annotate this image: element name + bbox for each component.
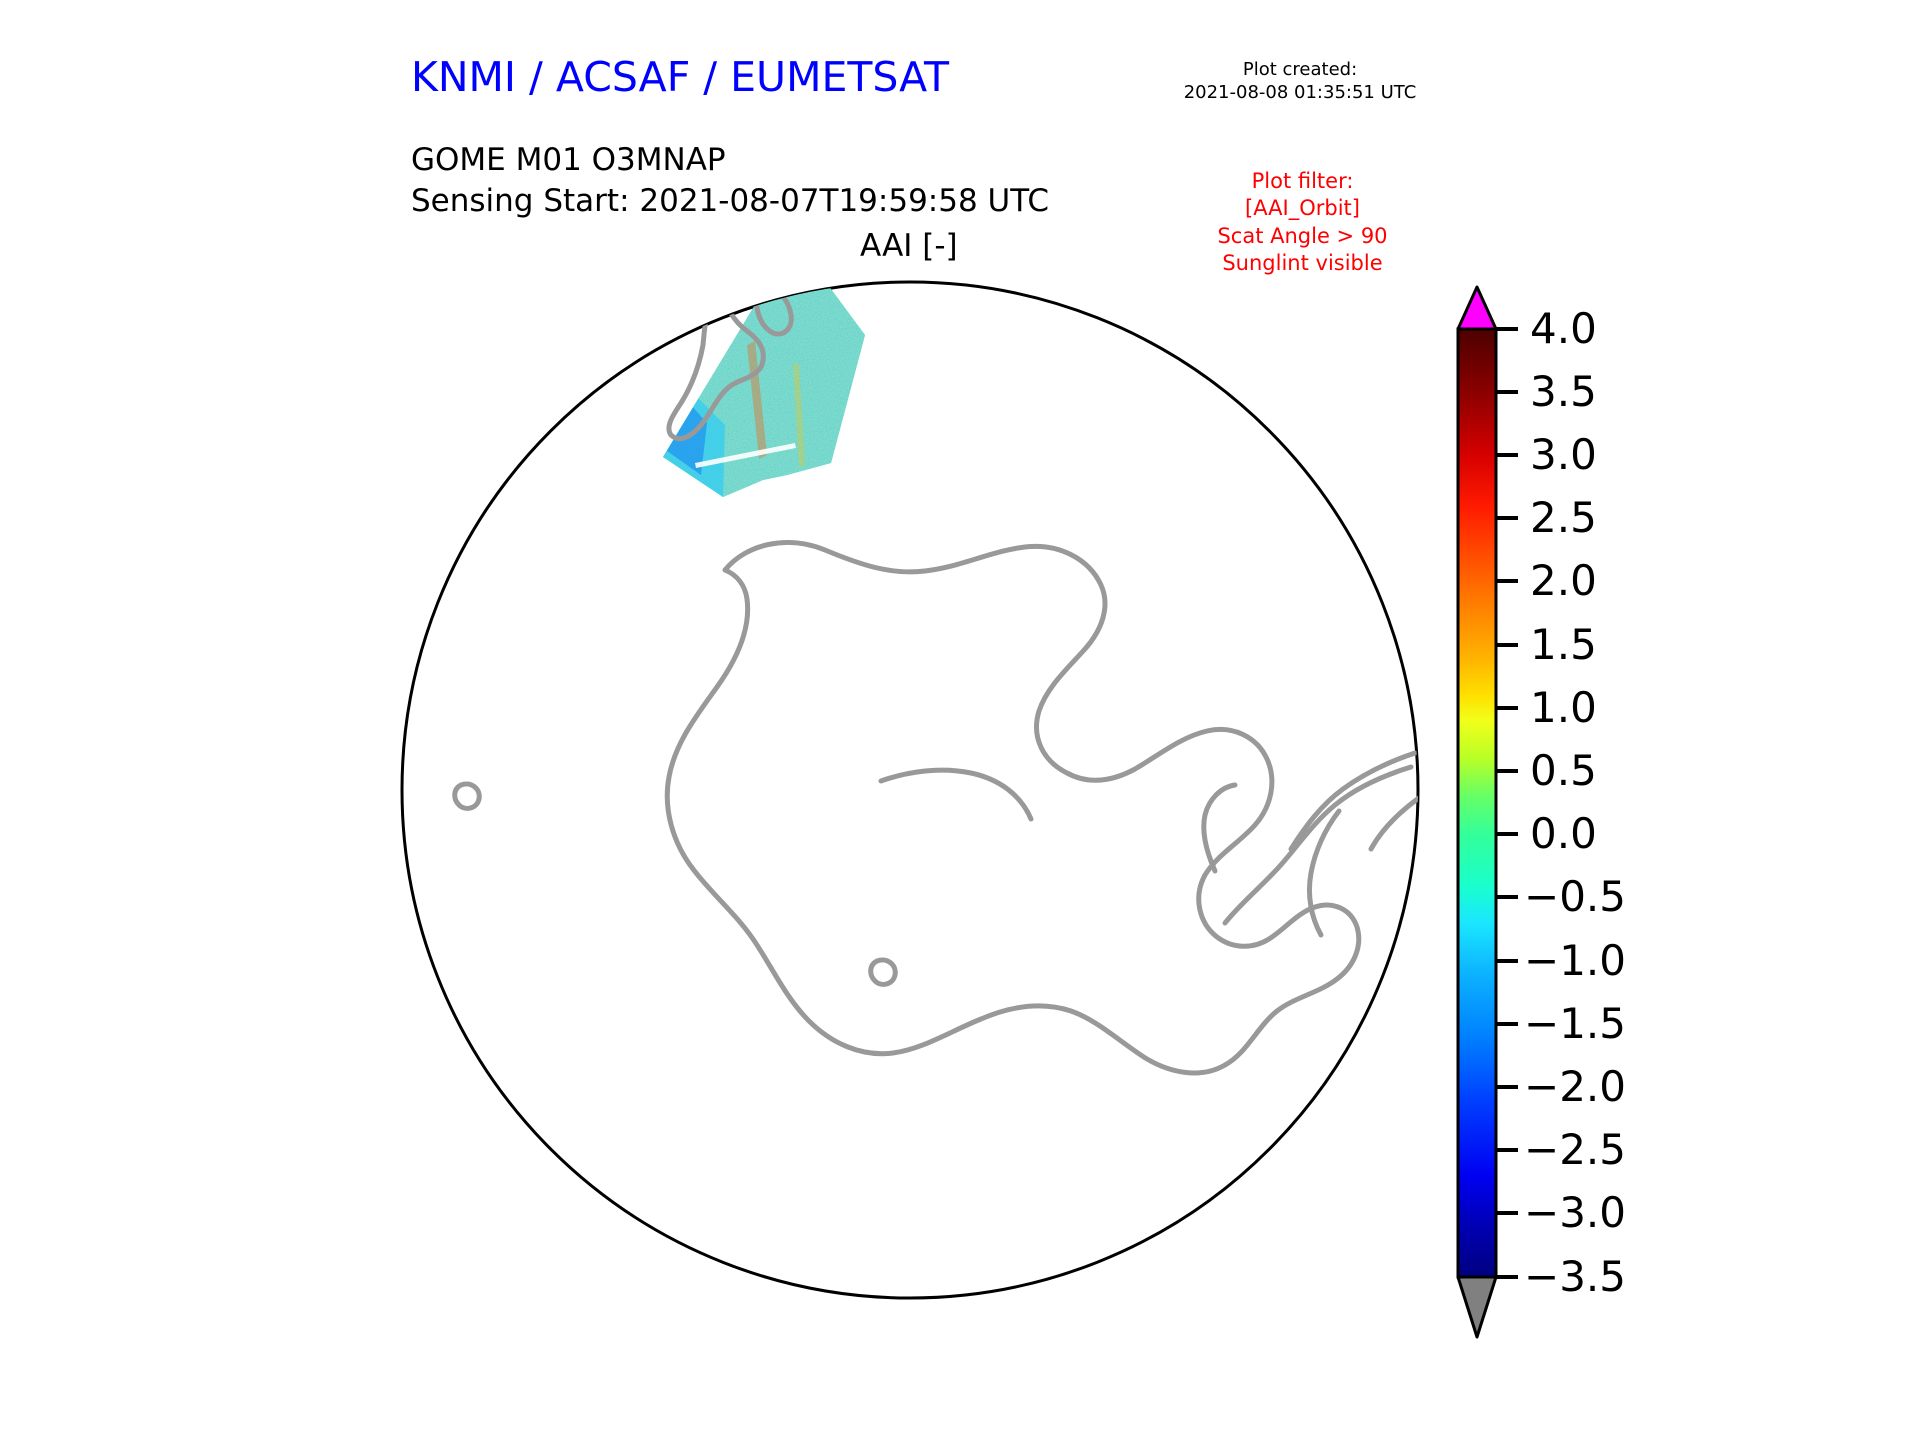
dataset-block: GOME M01 O3MNAP Sensing Start: 2021-08-0…: [411, 140, 1049, 222]
filter-line-3: Scat Angle > 90: [1175, 223, 1430, 250]
map-disc-outline: [402, 282, 1418, 1298]
colorbar-tick-label: 4.0: [1530, 304, 1597, 353]
colorbar-tick-label: −2.5: [1524, 1125, 1626, 1174]
colorbar-under-arrow: [1458, 1277, 1496, 1337]
colorbar: 4.0 3.5 3.0 2.5 2.0 1.5 1.0 0.5 0.0 −0.5…: [1452, 285, 1512, 1085]
colorbar-tick-label: −3.5: [1524, 1252, 1626, 1301]
plot-filter-block: Plot filter: [AAI_Orbit] Scat Angle > 90…: [1175, 168, 1430, 277]
colorbar-tick-label: −1.5: [1524, 999, 1626, 1048]
filter-line-1: Plot filter:: [1175, 168, 1430, 195]
colorbar-tick-label: −1.0: [1524, 936, 1626, 985]
colorbar-tick-label: 2.5: [1530, 493, 1597, 542]
plot-created-value: 2021-08-08 01:35:51 UTC: [1160, 81, 1440, 104]
colorbar-gradient: [1458, 329, 1496, 1277]
colorbar-tick-label: −3.0: [1524, 1188, 1626, 1237]
sensing-start-line: Sensing Start: 2021-08-07T19:59:58 UTC: [411, 181, 1049, 222]
polar-map: [395, 275, 1425, 1305]
filter-line-2: [AAI_Orbit]: [1175, 195, 1430, 222]
plot-created-block: Plot created: 2021-08-08 01:35:51 UTC: [1160, 58, 1440, 104]
colorbar-tick-label: 2.0: [1530, 556, 1597, 605]
colorbar-tick-label: 0.5: [1530, 746, 1597, 795]
colorbar-over-arrow: [1458, 287, 1496, 329]
organisation-title: KNMI / ACSAF / EUMETSAT: [411, 53, 949, 101]
colorbar-tick-label: 3.5: [1530, 367, 1597, 416]
colorbar-ticks: [1496, 329, 1518, 1277]
colorbar-tick-label: −0.5: [1524, 872, 1626, 921]
plot-variable-title: AAI [-]: [860, 228, 958, 264]
colorbar-tick-label: 0.0: [1530, 809, 1597, 858]
instrument-line: GOME M01 O3MNAP: [411, 140, 1049, 181]
filter-line-4: Sunglint visible: [1175, 250, 1430, 277]
colorbar-tick-labels: 4.0 3.5 3.0 2.5 2.0 1.5 1.0 0.5 0.0 −0.5…: [1524, 304, 1626, 1301]
colorbar-tick-label: 1.5: [1530, 620, 1597, 669]
colorbar-tick-label: 1.0: [1530, 683, 1597, 732]
colorbar-tick-label: 3.0: [1530, 430, 1597, 479]
colorbar-tick-label: −2.0: [1524, 1062, 1626, 1111]
plot-created-label: Plot created:: [1160, 58, 1440, 81]
